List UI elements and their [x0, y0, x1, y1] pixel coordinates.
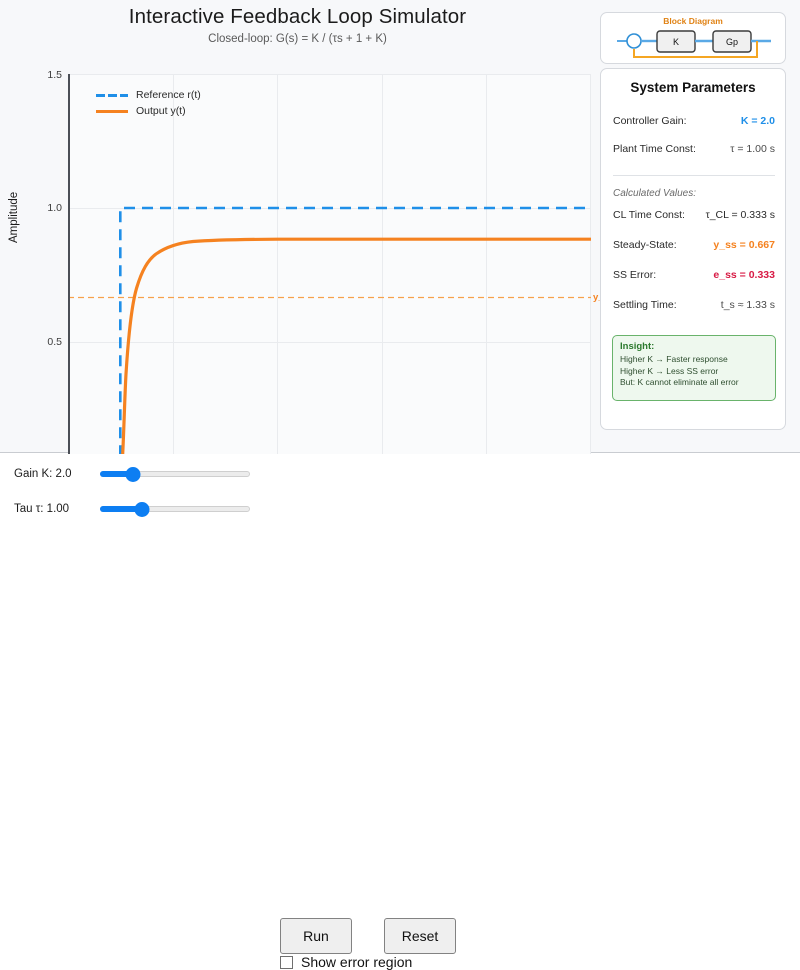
insight-box: Insight: Higher K → Faster response High…	[612, 335, 776, 401]
page-subtitle: Closed-loop: G(s) = K / (τs + 1 + K)	[0, 33, 595, 45]
insight-title: Insight:	[620, 341, 768, 352]
legend-dashed-line-icon	[96, 90, 128, 101]
response-chart: 0.0 0.5 1.0 1.5 0 2 4 6 8 10	[10, 68, 588, 446]
system-parameters-panel: System Parameters Controller Gain: K = 2…	[600, 68, 786, 430]
series-reference-rt	[68, 208, 591, 476]
reset-button[interactable]: Reset	[384, 918, 456, 954]
legend-label-reference: Reference r(t)	[136, 89, 201, 101]
calculated-values-label: Calculated Values:	[613, 188, 696, 199]
legend-label-output: Output y(t)	[136, 105, 186, 117]
run-button[interactable]: Run	[280, 918, 352, 954]
y-axis-line	[68, 74, 70, 477]
param-label-controller-gain: Controller Gain:	[613, 115, 687, 127]
param-value-plant-time-const: τ = 1.00 s	[730, 143, 775, 155]
gain-slider-thumb[interactable]	[126, 467, 141, 482]
param-row-controller-gain: Controller Gain: K = 2.0	[613, 115, 775, 127]
legend-item-reference: Reference r(t)	[96, 87, 201, 103]
tau-slider[interactable]	[100, 501, 250, 517]
ytick-3: 1.5	[47, 69, 62, 81]
gain-slider[interactable]	[100, 466, 250, 482]
param-row-ss-error: SS Error: e_ss = 0.333	[613, 269, 775, 281]
param-label-ss-error: SS Error:	[613, 269, 656, 281]
summing-junction-icon	[627, 34, 641, 48]
y-axis-label: Amplitude	[8, 192, 20, 243]
param-row-plant-time-const: Plant Time Const: τ = 1.00 s	[613, 143, 775, 155]
show-error-region-checkbox-wrap[interactable]: Show error region	[280, 954, 412, 970]
app-root: Interactive Feedback Loop Simulator Clos…	[0, 0, 800, 600]
param-row-steady-state: Steady-State: y_ss = 0.667	[613, 239, 775, 251]
ytick-1: 0.5	[47, 336, 62, 348]
params-divider	[613, 175, 775, 176]
param-value-settling-time: t_s ≈ 1.33 s	[721, 299, 775, 311]
page-title: Interactive Feedback Loop Simulator	[0, 5, 595, 29]
tau-slider-thumb[interactable]	[135, 502, 150, 517]
param-value-cl-time-const: τ_CL = 0.333 s	[706, 209, 775, 221]
gain-slider-label: Gain K: 2.0	[14, 468, 72, 480]
block-diagram-graphic: K Gp	[601, 27, 787, 65]
param-label-settling-time: Settling Time:	[613, 299, 677, 311]
block-diagram-title: Block Diagram	[601, 16, 785, 26]
simulation-panel: Interactive Feedback Loop Simulator Clos…	[0, 0, 800, 453]
show-error-region-checkbox[interactable]	[280, 956, 293, 969]
param-label-cl-time-const: CL Time Const:	[613, 209, 685, 221]
show-error-region-label: Show error region	[301, 954, 412, 970]
insight-line-2: Higher K → Less SS error	[620, 366, 768, 378]
param-value-ss-error: e_ss = 0.333	[713, 269, 775, 281]
controls-bar: Gain K: 2.0 Tau τ: 1.00 Run Reset Show e…	[0, 454, 800, 600]
param-label-steady-state: Steady-State:	[613, 239, 677, 251]
chart-legend: Reference r(t) Output y(t)	[96, 87, 201, 119]
param-label-plant-time-const: Plant Time Const:	[613, 143, 696, 155]
insight-line-3: But: K cannot eliminate all error	[620, 377, 768, 389]
chart-series-layer	[68, 74, 591, 477]
legend-solid-line-icon	[96, 106, 128, 117]
tau-slider-label: Tau τ: 1.00	[14, 503, 69, 515]
plot-area: 0.0 0.5 1.0 1.5 0 2 4 6 8 10	[68, 74, 591, 477]
param-row-cl-time-const: CL Time Const: τ_CL = 0.333 s	[613, 209, 775, 221]
parameters-title: System Parameters	[601, 80, 785, 95]
svg-text:Gp: Gp	[726, 37, 738, 47]
svg-text:K: K	[673, 37, 679, 47]
param-value-controller-gain: K = 2.0	[741, 115, 775, 127]
legend-item-output: Output y(t)	[96, 103, 201, 119]
block-diagram-card: Block Diagram K Gp	[600, 12, 786, 64]
insight-line-1: Higher K → Faster response	[620, 354, 768, 366]
param-value-steady-state: y_ss = 0.667	[713, 239, 775, 251]
series-output-yt	[68, 239, 591, 476]
ytick-2: 1.0	[47, 202, 62, 214]
param-row-settling-time: Settling Time: t_s ≈ 1.33 s	[613, 299, 775, 311]
